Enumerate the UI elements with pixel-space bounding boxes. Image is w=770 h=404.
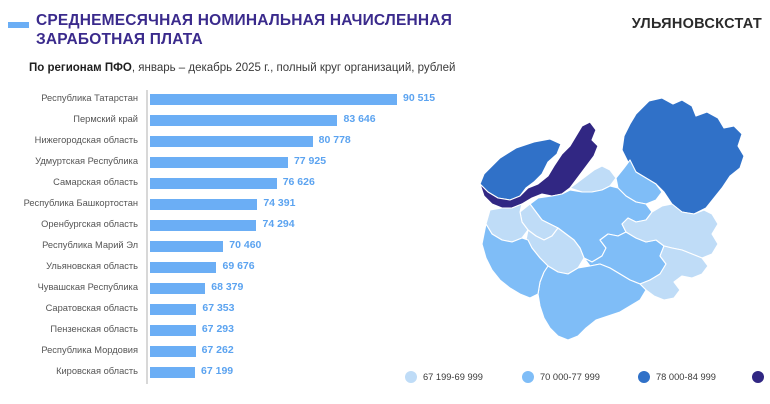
bar-row: Оренбургская область74 294 [0,216,430,237]
choropleth-map [430,92,770,362]
bar-category-label: Пермский край [0,114,138,124]
bar-row: Республика Татарстан90 515 [0,90,430,111]
bar-category-label: Ульяновская область [0,261,138,271]
bar-value-label: 70 460 [229,239,261,251]
bar[interactable] [150,241,223,252]
legend-item[interactable]: 70 000-77 999 [522,369,600,385]
bar[interactable] [150,304,196,315]
page-title-line2: ЗАРАБОТНАЯ ПЛАТА [36,30,596,49]
legend-color-swatch [522,371,534,383]
bar-value-label: 80 778 [319,134,351,146]
bar-category-label: Оренбургская область [0,219,138,229]
bar-category-label: Саратовская область [0,303,138,313]
bar-row: Самарская область76 626 [0,174,430,195]
bar-category-label: Республика Татарстан [0,93,138,103]
bar-category-label: Кировская область [0,366,138,376]
legend-color-swatch [752,371,764,383]
legend-label: 67 199-69 999 [423,372,483,382]
bar-value-label: 67 353 [202,302,234,314]
bar-row: Чувашская Республика68 379 [0,279,430,300]
bar-value-label: 74 294 [262,218,294,230]
bar-category-label: Республика Башкортостан [0,198,138,208]
legend-label: 70 000-77 999 [540,372,600,382]
bar-value-label: 83 646 [343,113,375,125]
page-title: СРЕДНЕМЕСЯЧНАЯ НОМИНАЛЬНАЯ НАЧИСЛЕННАЯ З… [36,11,596,49]
bar-row: Нижегородская область80 778 [0,132,430,153]
bar-value-label: 77 925 [294,155,326,167]
bar-category-label: Республика Мордовия [0,345,138,355]
subtitle-rest: , январь – декабрь 2025 г., полный круг … [132,62,456,74]
bar-category-label: Нижегородская область [0,135,138,145]
legend-color-swatch [405,371,417,383]
legend-item[interactable]: 85 000-90 515 [752,369,770,385]
bar-category-label: Удмуртская Республика [0,156,138,166]
bar-chart: Республика Татарстан90 515Пермский край8… [0,88,430,388]
bar-row: Удмуртская Республика77 925 [0,153,430,174]
legend-label: 78 000-84 999 [656,372,716,382]
bar-value-label: 74 391 [263,197,295,209]
chart-subtitle: По регионам ПФО, январь – декабрь 2025 г… [29,62,455,74]
bar[interactable] [150,94,397,105]
bar-category-label: Пензенская область [0,324,138,334]
bar[interactable] [150,178,277,189]
bar[interactable] [150,346,196,357]
bar-value-label: 67 199 [201,365,233,377]
bar-value-label: 67 262 [202,344,234,356]
page-header: СРЕДНЕМЕСЯЧНАЯ НОМИНАЛЬНАЯ НАЧИСЛЕННАЯ З… [0,0,770,52]
subtitle-bold: По регионам ПФО [29,62,132,74]
bar-row: Пензенская область67 293 [0,321,430,342]
map-legend: 67 199-69 99970 000-77 99978 000-84 9998… [405,369,765,389]
bar[interactable] [150,136,313,147]
bar-row: Кировская область67 199 [0,363,430,384]
bar[interactable] [150,283,205,294]
bar-row: Республика Мордовия67 262 [0,342,430,363]
bar[interactable] [150,157,288,168]
title-accent-dash [8,22,29,28]
bar[interactable] [150,367,195,378]
bar-value-label: 67 293 [202,323,234,335]
bar-row: Республика Башкортостан74 391 [0,195,430,216]
bar[interactable] [150,115,337,126]
bar-category-label: Чувашская Республика [0,282,138,292]
legend-item[interactable]: 67 199-69 999 [405,369,483,385]
bar-row: Саратовская область67 353 [0,300,430,321]
bar[interactable] [150,199,257,210]
bar[interactable] [150,262,216,273]
brand-logo: УЛЬЯНОВСКСТАТ [632,16,762,32]
bar-value-label: 68 379 [211,281,243,293]
legend-item[interactable]: 78 000-84 999 [638,369,716,385]
legend-color-swatch [638,371,650,383]
page-title-line1: СРЕДНЕМЕСЯЧНАЯ НОМИНАЛЬНАЯ НАЧИСЛЕННАЯ [36,12,452,29]
bar-row: Пермский край83 646 [0,111,430,132]
bar-row: Республика Марий Эл70 460 [0,237,430,258]
bar-row: Ульяновская область69 676 [0,258,430,279]
bar-value-label: 76 626 [283,176,315,188]
bar-category-label: Республика Марий Эл [0,240,138,250]
bar[interactable] [150,325,196,336]
bar-category-label: Самарская область [0,177,138,187]
bar[interactable] [150,220,256,231]
bar-value-label: 69 676 [222,260,254,272]
